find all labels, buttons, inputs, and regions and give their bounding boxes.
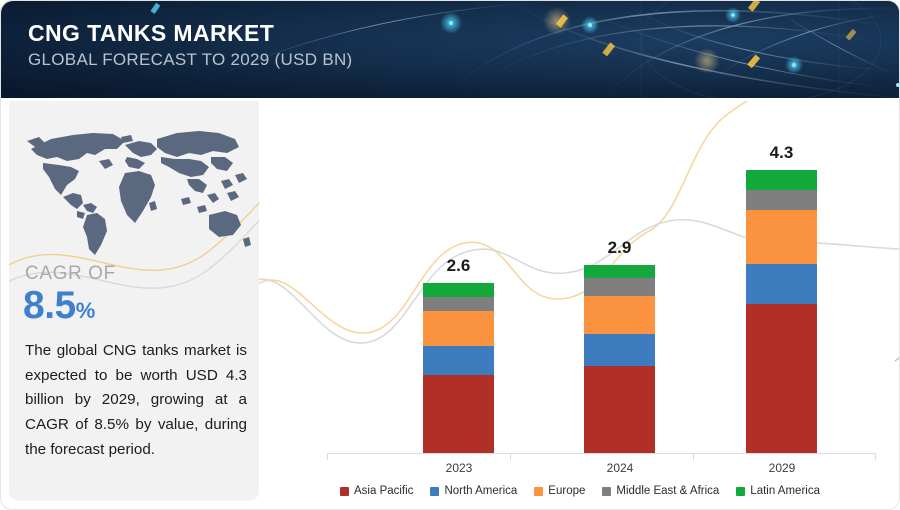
- bar-segment-north-america[interactable]: [423, 346, 494, 375]
- bar-segment-asia-pacific[interactable]: [423, 375, 494, 453]
- cagr-label: CAGR OF: [25, 263, 116, 285]
- growth-arrow-icon: [889, 261, 900, 366]
- legend-swatch-icon: [534, 487, 543, 496]
- legend-swatch-icon: [736, 487, 745, 496]
- legend-item-europe[interactable]: Europe: [534, 485, 585, 497]
- bar-segment-middle-east-africa[interactable]: [584, 278, 655, 296]
- bar-total-label-2024: 2.9: [584, 238, 655, 258]
- axis-tick: [693, 453, 694, 460]
- x-axis-line: [327, 453, 875, 454]
- infographic-page: CNG TANKS MARKET GLOBAL FORECAST TO 2029…: [0, 0, 900, 510]
- bar-segment-asia-pacific[interactable]: [746, 304, 817, 453]
- market-description: The global CNG tanks market is expected …: [25, 339, 247, 462]
- bar-column-2023[interactable]: [423, 283, 494, 453]
- x-axis-label-2029: 2029: [737, 461, 827, 475]
- legend-label: North America: [444, 485, 517, 497]
- bar-segment-europe[interactable]: [746, 210, 817, 264]
- legend-swatch-icon: [340, 487, 349, 496]
- bar-segment-north-america[interactable]: [584, 334, 655, 366]
- header-title-group: CNG TANKS MARKET GLOBAL FORECAST TO 2029…: [28, 21, 353, 70]
- legend-swatch-icon: [602, 487, 611, 496]
- bar-column-2024[interactable]: [584, 265, 655, 453]
- legend-label: Europe: [548, 485, 585, 497]
- axis-tick: [875, 453, 876, 460]
- bar-segment-middle-east-africa[interactable]: [746, 190, 817, 210]
- x-axis-label-2024: 2024: [575, 461, 665, 475]
- x-axis-label-2023: 2023: [414, 461, 504, 475]
- cagr-percent-sign: %: [76, 298, 95, 323]
- legend-item-asia-pacific[interactable]: Asia Pacific: [340, 485, 413, 497]
- page-title: CNG TANKS MARKET: [28, 21, 353, 46]
- bar-segment-middle-east-africa[interactable]: [423, 297, 494, 311]
- legend-item-middle-east-africa[interactable]: Middle East & Africa: [602, 485, 719, 497]
- legend-label: Middle East & Africa: [616, 485, 719, 497]
- bar-column-2029[interactable]: [746, 170, 817, 453]
- bar-segment-latin-america[interactable]: [746, 170, 817, 190]
- legend-item-north-america[interactable]: North America: [430, 485, 517, 497]
- cagr-value: 8.5%: [23, 284, 95, 328]
- bar-total-label-2023: 2.6: [423, 256, 494, 276]
- bar-segment-latin-america[interactable]: [584, 265, 655, 278]
- bar-segment-asia-pacific[interactable]: [584, 366, 655, 453]
- legend-item-latin-america[interactable]: Latin America: [736, 485, 820, 497]
- chart-area: 2.6 2.9 4.3 2023 2024 2029: [259, 101, 900, 510]
- header-banner: CNG TANKS MARKET GLOBAL FORECAST TO 2029…: [1, 1, 900, 98]
- bar-total-label-2029: 4.3: [746, 143, 817, 163]
- legend-label: Latin America: [750, 485, 820, 497]
- bar-segment-europe[interactable]: [584, 296, 655, 334]
- bar-segment-latin-america[interactable]: [423, 283, 494, 297]
- legend-swatch-icon: [430, 487, 439, 496]
- bar-segment-europe[interactable]: [423, 311, 494, 346]
- bar-segment-north-america[interactable]: [746, 264, 817, 304]
- chart-legend: Asia Pacific North America Europe Middle…: [259, 479, 900, 503]
- axis-tick: [510, 453, 511, 460]
- sidebar-panel: CAGR OF 8.5% The global CNG tanks market…: [9, 101, 259, 501]
- world-map-icon: [21, 119, 253, 259]
- axis-tick: [327, 453, 328, 460]
- cagr-number: 8.5: [23, 284, 76, 327]
- page-subtitle: GLOBAL FORECAST TO 2029 (USD BN): [28, 50, 353, 70]
- legend-label: Asia Pacific: [354, 485, 413, 497]
- plot-region: 2.6 2.9 4.3 2023 2024 2029: [259, 101, 900, 456]
